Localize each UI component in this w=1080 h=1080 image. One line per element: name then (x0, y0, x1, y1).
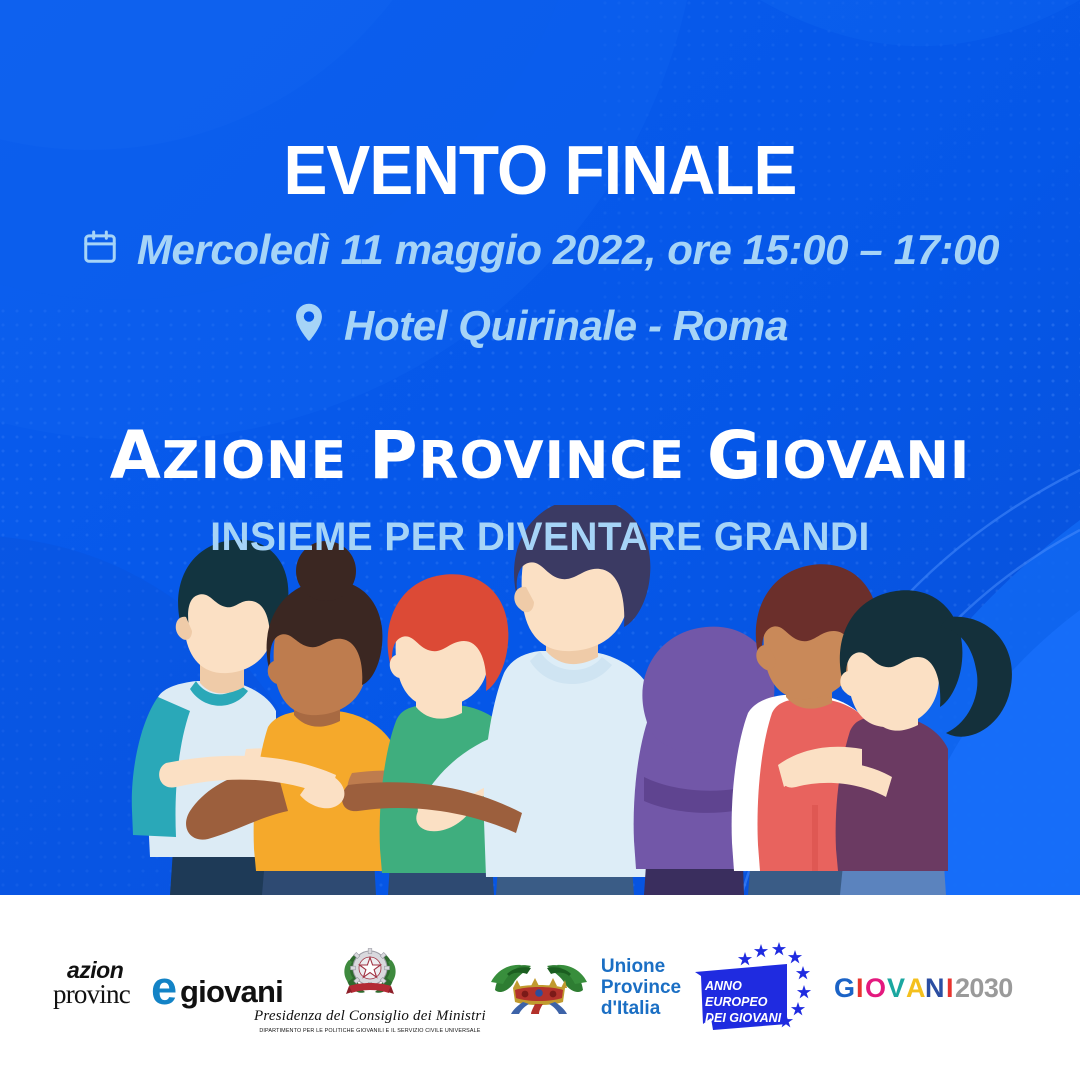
upi-text-block: Unione Province d'Italia (601, 956, 681, 1020)
group-hug-illustration (0, 505, 1080, 895)
aeg-line-2-text: EUROPEO (705, 995, 768, 1009)
logo-presidenza-consiglio-ministri[interactable]: Presidenza del Consiglio dei Ministri DI… (262, 942, 477, 1034)
italian-republic-emblem-icon (339, 942, 401, 1005)
logo-strip: azion provinc e giovani (35, 940, 1045, 1036)
brand-title-g: G (707, 417, 762, 494)
apg-provinc-text: provinc (53, 981, 130, 1008)
brand-title-rovince: ROVINCE (418, 431, 685, 491)
g2030-letter-V: V (887, 973, 905, 1003)
footer-logo-band: azion provinc e giovani (0, 895, 1080, 1080)
presidenza-line-2: DIPARTIMENTO PER LE POLITICHE GIOVANILI … (259, 1028, 480, 1034)
g2030-letter-I2: I (946, 973, 953, 1003)
logo-giovani-2030[interactable]: G I O V A N I 2030 GIOVANI 2030 (832, 968, 1027, 1008)
brand-subtitle: INSIEME PER DIVENTARE GRANDI (16, 517, 1064, 557)
crown-laurel-emblem-icon (487, 956, 591, 1019)
upi-line-1: Unione (601, 956, 665, 977)
page-title: EVENTO FINALE (32, 135, 1047, 205)
brand-title-a: A (110, 417, 162, 494)
aeg-line-3-text: DEI GIOVANI (705, 1011, 782, 1025)
g2030-letter-N: N (925, 973, 944, 1003)
brand-title: AZIONE PROVINCE GIOVANI (0, 423, 1080, 489)
logo-unione-province-italia[interactable]: Unione Province d'Italia (487, 956, 681, 1020)
g2030-letter-O: O (865, 973, 885, 1003)
g2030-letter-I: I (856, 973, 863, 1003)
calendar-icon (81, 228, 119, 271)
g2030-number: 2030 (955, 973, 1013, 1003)
aeg-line-1-text: ANNO (704, 979, 742, 993)
brand-title-zione: ZIONE (162, 431, 347, 491)
apg-e-letter: e (151, 964, 177, 1011)
presidenza-line-1: Presidenza del Consiglio dei Ministri (254, 1008, 486, 1025)
event-location-text: Hotel Quirinale - Roma (344, 305, 788, 347)
brand-title-p: P (369, 417, 418, 494)
event-date-text: Mercoledì 11 maggio 2022, ore 15:00 – 17… (137, 229, 999, 271)
event-date-row: Mercoledì 11 maggio 2022, ore 15:00 – 17… (0, 228, 1080, 271)
upi-line-3: d'Italia (601, 998, 660, 1019)
map-pin-icon (292, 303, 326, 348)
event-poster: EVENTO FINALE Mercoledì 11 maggio 2022, … (0, 0, 1080, 1080)
event-location-row: Hotel Quirinale - Roma (0, 303, 1080, 348)
logo-azione-province-giovani[interactable]: azion provinc e giovani (53, 960, 253, 1016)
apg-giovani-text: giovani (180, 976, 283, 1007)
upi-line-2: Province (601, 977, 681, 998)
g2030-letter-A: A (906, 973, 925, 1003)
group-hug-artwork (0, 505, 1080, 895)
giovani2030-wordmark-icon: G I O V A N I 2030 (832, 968, 1027, 1008)
logo-anno-europeo-dei-giovani[interactable]: ANNO EUROPEO DEI GIOVANI ANNO EUROPEO DE… (691, 940, 823, 1036)
brand-title-iovani: IOVANI (762, 431, 970, 491)
g2030-letter-G: G (834, 973, 854, 1003)
aeg-badge-icon: ANNO EUROPEO DEI GIOVANI (691, 940, 823, 1036)
